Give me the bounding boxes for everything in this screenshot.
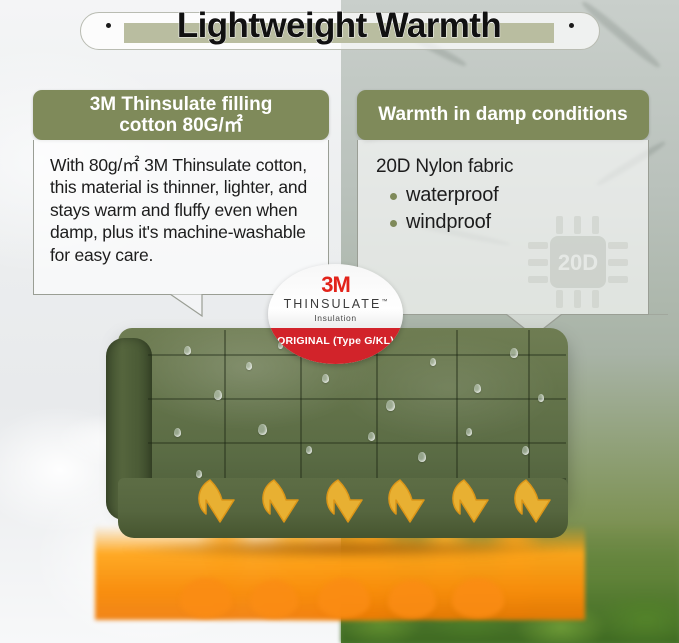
- fabric-lead-text: 20D Nylon fabric: [376, 156, 634, 178]
- thinsulate-badge: 3M THINSULATE™ Insulation ORIGINAL (Type…: [268, 264, 403, 364]
- card-header-line2: cotton 80G/㎡: [90, 115, 273, 136]
- heat-arrow-icon: [254, 476, 300, 540]
- card-header-damp-conditions: Warmth in damp conditions: [357, 90, 649, 140]
- heat-arrow-icon: [318, 476, 364, 540]
- badge-banner: ORIGINAL (Type G/KL): [268, 328, 403, 364]
- badge-trademark-symbol: ™: [381, 299, 387, 305]
- card-header-line1: 3M Thinsulate filling: [90, 94, 273, 115]
- heat-arrow-icon: [190, 476, 236, 540]
- badge-product-label: THINSULATE: [284, 297, 382, 311]
- chip-label: 20D: [558, 250, 598, 275]
- card-body-text: With 80g/㎡ 3M Thinsulate cotton, this ma…: [50, 154, 312, 266]
- heat-arrow-icon: [506, 476, 552, 540]
- heat-arrow-icon: [444, 476, 490, 540]
- badge-subtitle: Insulation: [268, 314, 403, 323]
- card-body-thinsulate-filling: With 80g/㎡ 3M Thinsulate cotton, this ma…: [33, 140, 329, 295]
- badge-brand-3m: 3M: [268, 274, 403, 296]
- heat-arrow-icon: [380, 476, 426, 540]
- badge-product-name: THINSULATE™: [268, 298, 403, 311]
- card-header-thinsulate-filling: 3M Thinsulate filling cotton 80G/㎡: [33, 90, 329, 140]
- infographic-canvas: Lightweight Warmth 3M Thinsulate filling…: [0, 0, 679, 643]
- title-text: Lightweight Warmth: [80, 4, 598, 48]
- card-header-line1: Warmth in damp conditions: [378, 104, 627, 125]
- card-thinsulate-filling: 3M Thinsulate filling cotton 80G/㎡ With …: [33, 90, 329, 295]
- page-title: Lightweight Warmth: [80, 4, 600, 50]
- fabric-chip-20d-icon: 20D: [526, 214, 638, 310]
- badge-banner-text: ORIGINAL (Type G/KL): [268, 335, 403, 347]
- list-item: waterproof: [390, 182, 634, 209]
